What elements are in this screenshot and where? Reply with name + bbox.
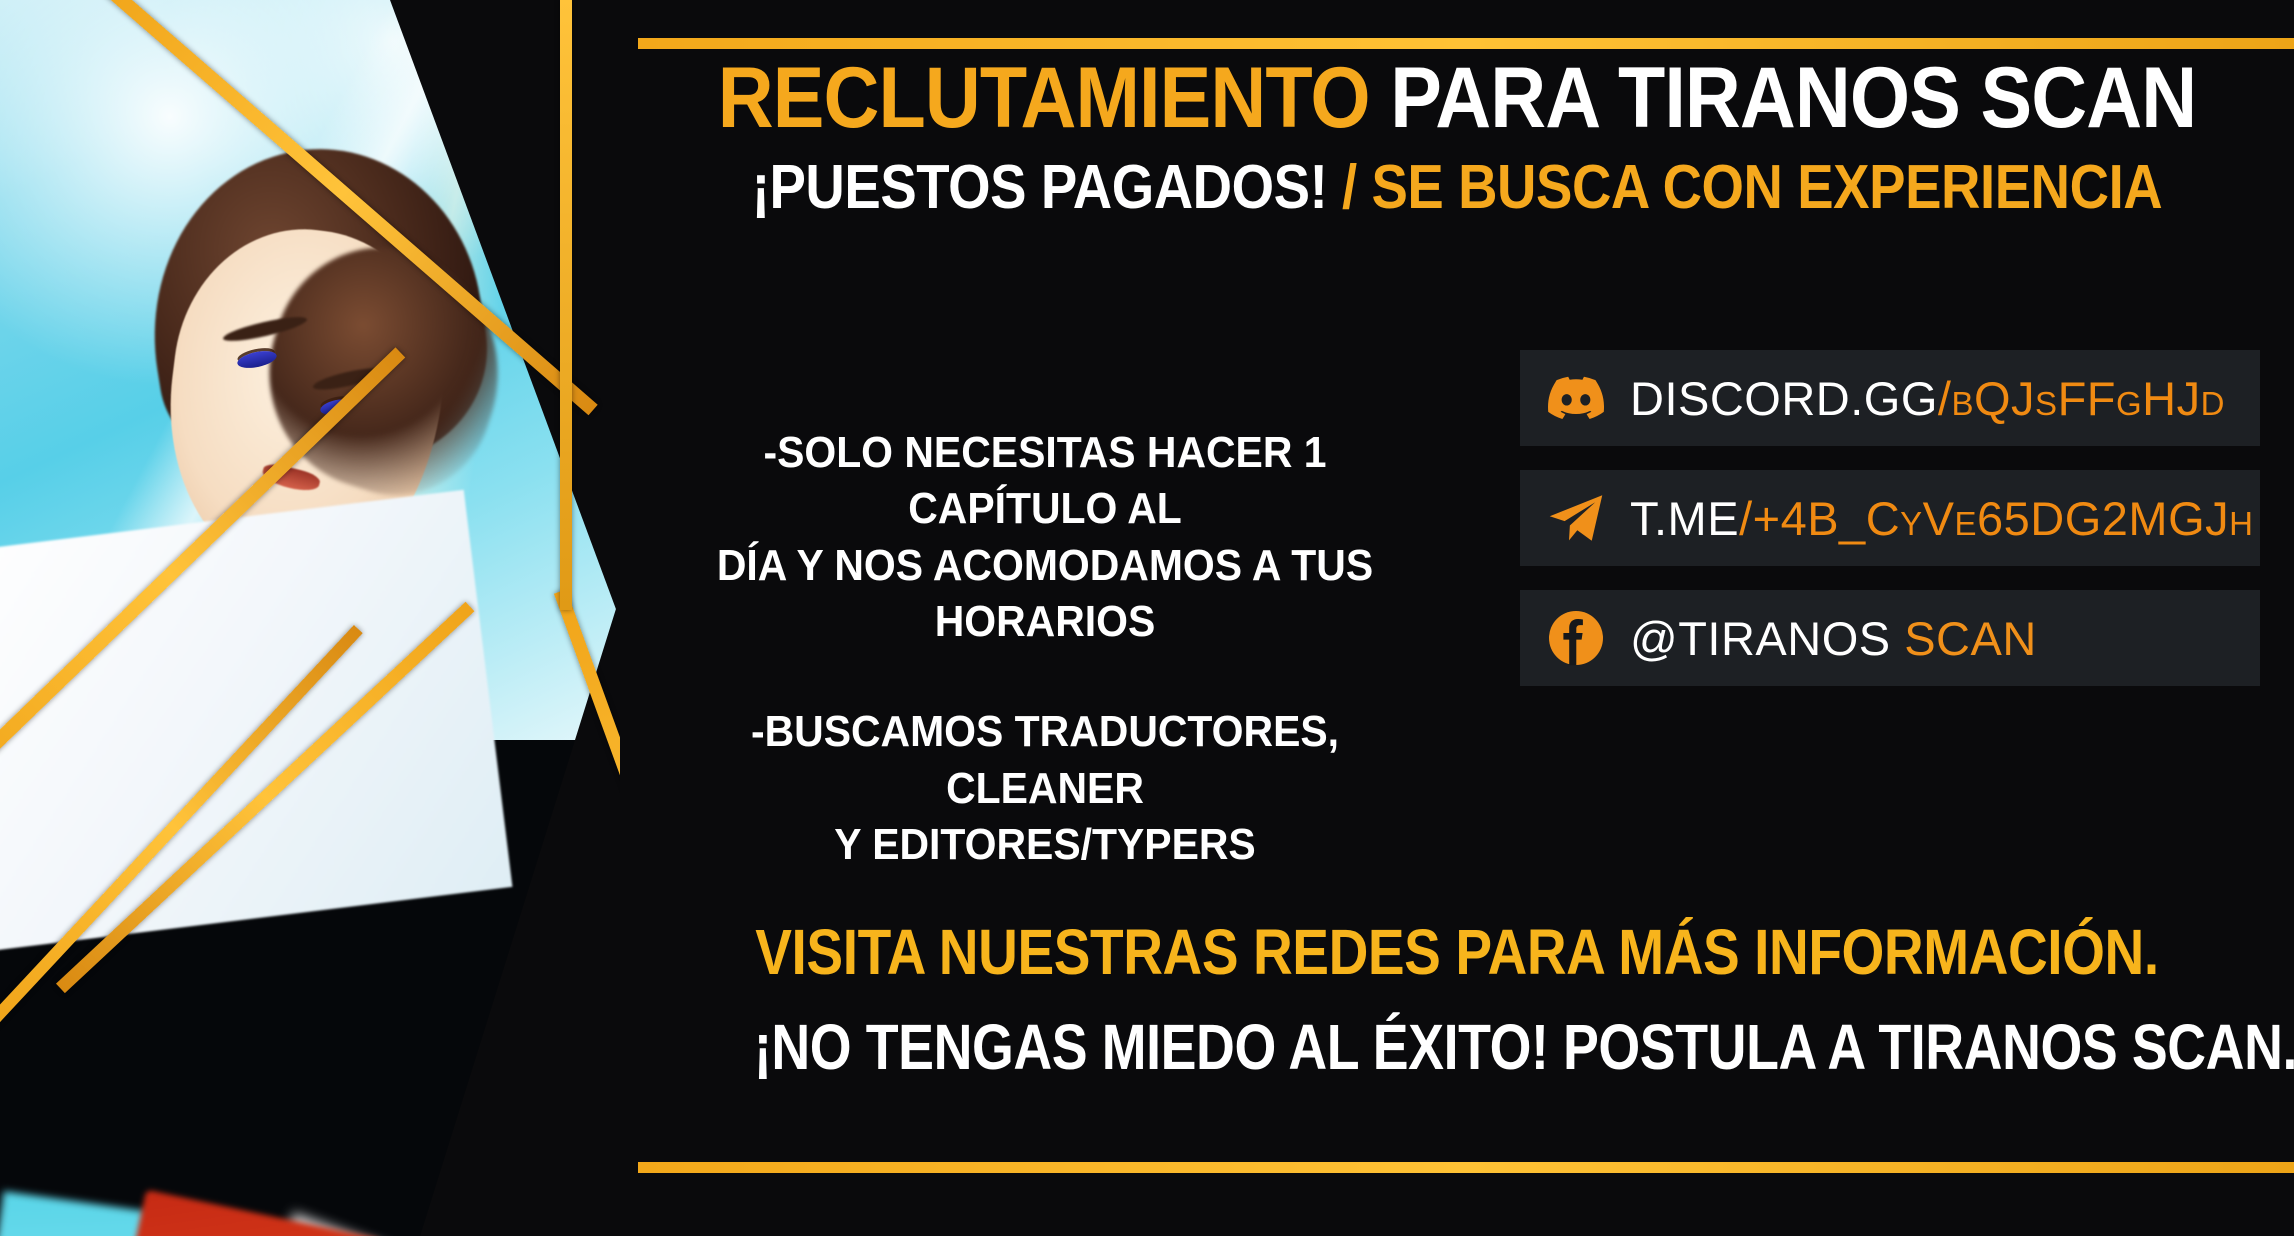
telegram-invite-code: +4B_CyVe65DG2MGJh (1753, 492, 2254, 545)
page-title: RECLUTAMIENTO PARA TIRANOS SCAN (704, 55, 2211, 143)
bullet-1-line-2: DÍA Y NOS ACOMODAMOS A TUS HORARIOS (664, 538, 1427, 651)
discord-domain-label: DISCORD.GG (1630, 372, 1938, 425)
subtitle-accent-part: / SE BUSCA CON EXPERIENCIA (1327, 153, 2162, 222)
contact-row-facebook[interactable]: @TIRANOS SCAN (1520, 590, 2260, 686)
content-panel: RECLUTAMIENTO PARA TIRANOS SCAN ¡PUESTOS… (620, 0, 2294, 1236)
top-gold-rule (638, 38, 2294, 49)
artwork-corner-mask-top (390, 0, 620, 620)
discord-separator: / (1938, 372, 1952, 425)
gold-vertical-divider (560, 0, 572, 610)
contact-text-discord: DISCORD.GG/bQJsFFgHJd (1630, 371, 2225, 426)
cta-line-1: VISITA NUESTRAS REDES PARA MÁS INFORMACI… (737, 915, 2177, 989)
headline-rest: PARA TIRANOS SCAN (1370, 50, 2197, 146)
facebook-handle-label: @TIRANOS (1630, 612, 1891, 665)
bullet-1-line-1: -SOLO NECESITAS HACER 1 CAPÍTULO AL (664, 425, 1427, 538)
cta-line-2: ¡NO TENGAS MIEDO AL ÉXITO! POSTULA A TIR… (754, 1010, 2160, 1084)
discord-invite-code: bQJsFFgHJd (1951, 372, 2224, 425)
subtitle: ¡PUESTOS PAGADOS! / SE BUSCA CON EXPERIE… (720, 155, 2193, 220)
facebook-handle-suffix: SCAN (1904, 612, 2037, 665)
telegram-domain-label: T.ME (1630, 492, 1739, 545)
contact-text-facebook: @TIRANOS SCAN (1630, 611, 2037, 666)
bottom-gold-rule (638, 1162, 2294, 1173)
telegram-icon (1548, 490, 1604, 546)
headline-accent-word: RECLUTAMIENTO (718, 50, 1370, 146)
artwork-panel (0, 0, 620, 1236)
subtitle-white-part: ¡PUESTOS PAGADOS! (752, 153, 1328, 222)
bullet-2-line-2: Y EDITORES/TYPERS (664, 817, 1427, 873)
requirements-list: -SOLO NECESITAS HACER 1 CAPÍTULO AL DÍA … (664, 425, 1427, 873)
contact-row-telegram[interactable]: T.ME/+4B_CyVe65DG2MGJh (1520, 470, 2260, 566)
facebook-icon (1548, 610, 1604, 666)
recruitment-banner: RECLUTAMIENTO PARA TIRANOS SCAN ¡PUESTOS… (0, 0, 2294, 1236)
contact-row-discord[interactable]: DISCORD.GG/bQJsFFgHJd (1520, 350, 2260, 446)
bullet-2-line-1: -BUSCAMOS TRADUCTORES, CLEANER (664, 704, 1427, 817)
facebook-separator (1891, 612, 1905, 665)
contact-text-telegram: T.ME/+4B_CyVe65DG2MGJh (1630, 491, 2253, 546)
telegram-separator: / (1739, 492, 1753, 545)
contact-links: DISCORD.GG/bQJsFFgHJd T.ME/+4B_CyVe65DG2… (1520, 350, 2260, 710)
artwork-color-band (0, 1191, 152, 1236)
discord-icon (1548, 370, 1604, 426)
bullet-spacer (664, 650, 1427, 704)
